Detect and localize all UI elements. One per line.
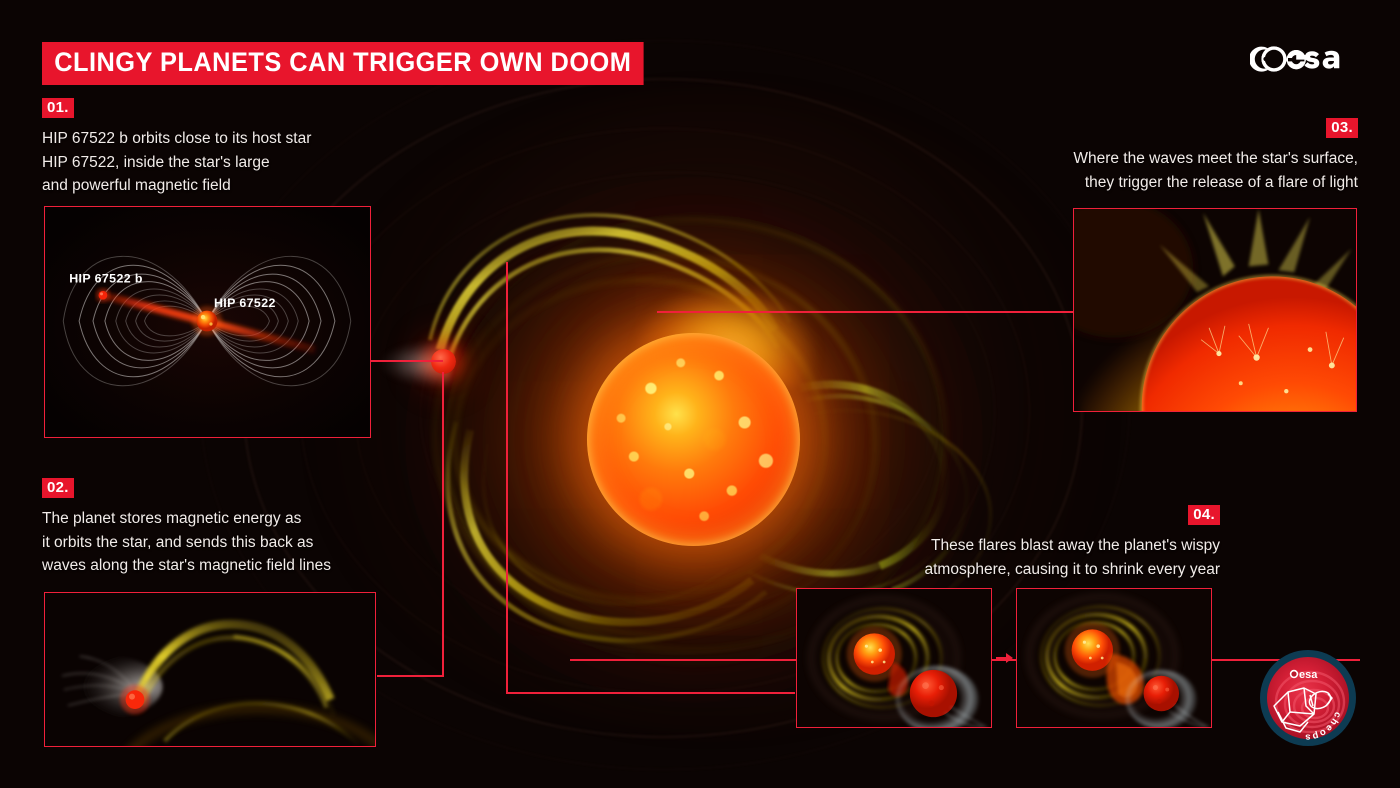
inset-flare-closeup[interactable] — [1073, 208, 1357, 412]
step-03-text: Where the waves meet the star's surface,… — [938, 147, 1358, 194]
step-01-text: HIP 67522 b orbits close to its host sta… — [42, 127, 311, 198]
inset-magnetic-field[interactable]: HIP 67522 b HIP 67522 — [44, 206, 371, 438]
inset-shrink-after[interactable] — [1016, 588, 1212, 728]
step-02-number: 02. — [42, 478, 74, 498]
page-title: CLINGY PLANETS CAN TRIGGER OWN DOOM — [42, 42, 644, 85]
planet-hip67522b — [431, 349, 456, 374]
shrink-before-illustration — [797, 589, 991, 727]
dipole-field-diagram: HIP 67522 b HIP 67522 — [45, 207, 370, 437]
step-02-text: The planet stores magnetic energy as it … — [42, 507, 331, 578]
step-04-number: 04. — [1188, 505, 1220, 525]
step-04-block: 04. These flares blast away the planet's… — [800, 505, 1220, 581]
arrow-right-icon — [996, 650, 1014, 666]
cheops-mission-patch[interactable]: esa cheops — [1258, 648, 1358, 748]
patch-esa-label: esa — [1299, 669, 1318, 681]
step-03-number: 03. — [1326, 118, 1358, 138]
step-04-text: These flares blast away the planet's wis… — [800, 534, 1220, 581]
infographic-canvas: CLINGY PLANETS CAN TRIGGER OWN DOOM 01. … — [0, 0, 1400, 788]
inset-wave-travel[interactable] — [44, 592, 376, 747]
step-02-block: 02. The planet stores magnetic energy as… — [42, 478, 331, 578]
host-star-hip67522 — [587, 333, 800, 546]
step-01-number: 01. — [42, 98, 74, 118]
planet-label: HIP 67522 b — [69, 271, 143, 285]
star-label: HIP 67522 — [214, 296, 276, 310]
shrink-after-illustration — [1017, 589, 1211, 727]
wave-travel-illustration — [45, 593, 375, 746]
star-limb — [587, 333, 800, 546]
esa-logo — [1250, 36, 1360, 82]
step-01-block: 01. HIP 67522 b orbits close to its host… — [42, 98, 311, 198]
flare-closeup-illustration — [1074, 209, 1356, 411]
step-03-block: 03. Where the waves meet the star's surf… — [938, 118, 1358, 194]
inset-shrink-before[interactable] — [796, 588, 992, 728]
